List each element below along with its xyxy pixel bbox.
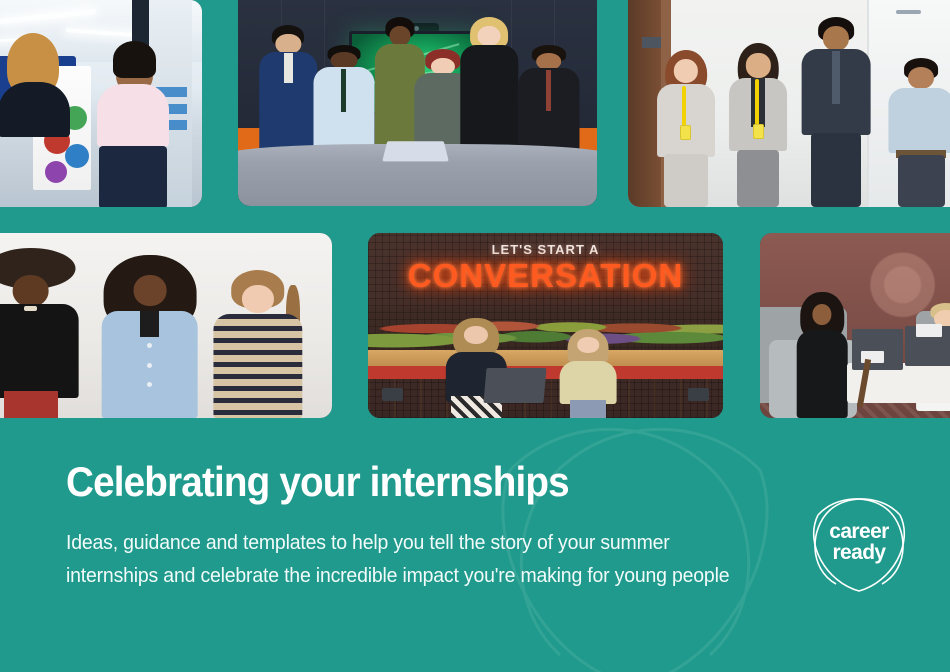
neon-sign-small-text: LET'S START A xyxy=(492,242,600,257)
corridor-person-right xyxy=(86,41,183,207)
logo-line-2: ready xyxy=(832,542,885,563)
photo-lounge-laptops xyxy=(760,233,950,418)
page-title: Celebrating your internships xyxy=(66,458,569,506)
page-subtitle: Ideas, guidance and templates to help yo… xyxy=(66,526,729,592)
photo-conversation-neon: LET'S START A CONVERSATION xyxy=(368,233,723,418)
corridor-person-left xyxy=(0,33,86,207)
page-subtitle-line-2: internships and celebrate the incredible… xyxy=(66,559,729,592)
photo-office-corridor xyxy=(0,0,202,207)
photo-three-students xyxy=(0,233,332,418)
logo-line-1: career xyxy=(829,521,888,542)
photo-four-interns xyxy=(628,0,950,207)
page-subtitle-line-1: Ideas, guidance and templates to help yo… xyxy=(66,526,729,559)
career-ready-logo-text: career ready xyxy=(800,488,918,596)
career-ready-logo: career ready xyxy=(800,488,918,596)
photo-boardroom-students xyxy=(238,0,597,206)
poster-canvas: LET'S START A CONVERSATION xyxy=(0,0,950,672)
neon-sign-large-text: CONVERSATION xyxy=(408,257,683,295)
